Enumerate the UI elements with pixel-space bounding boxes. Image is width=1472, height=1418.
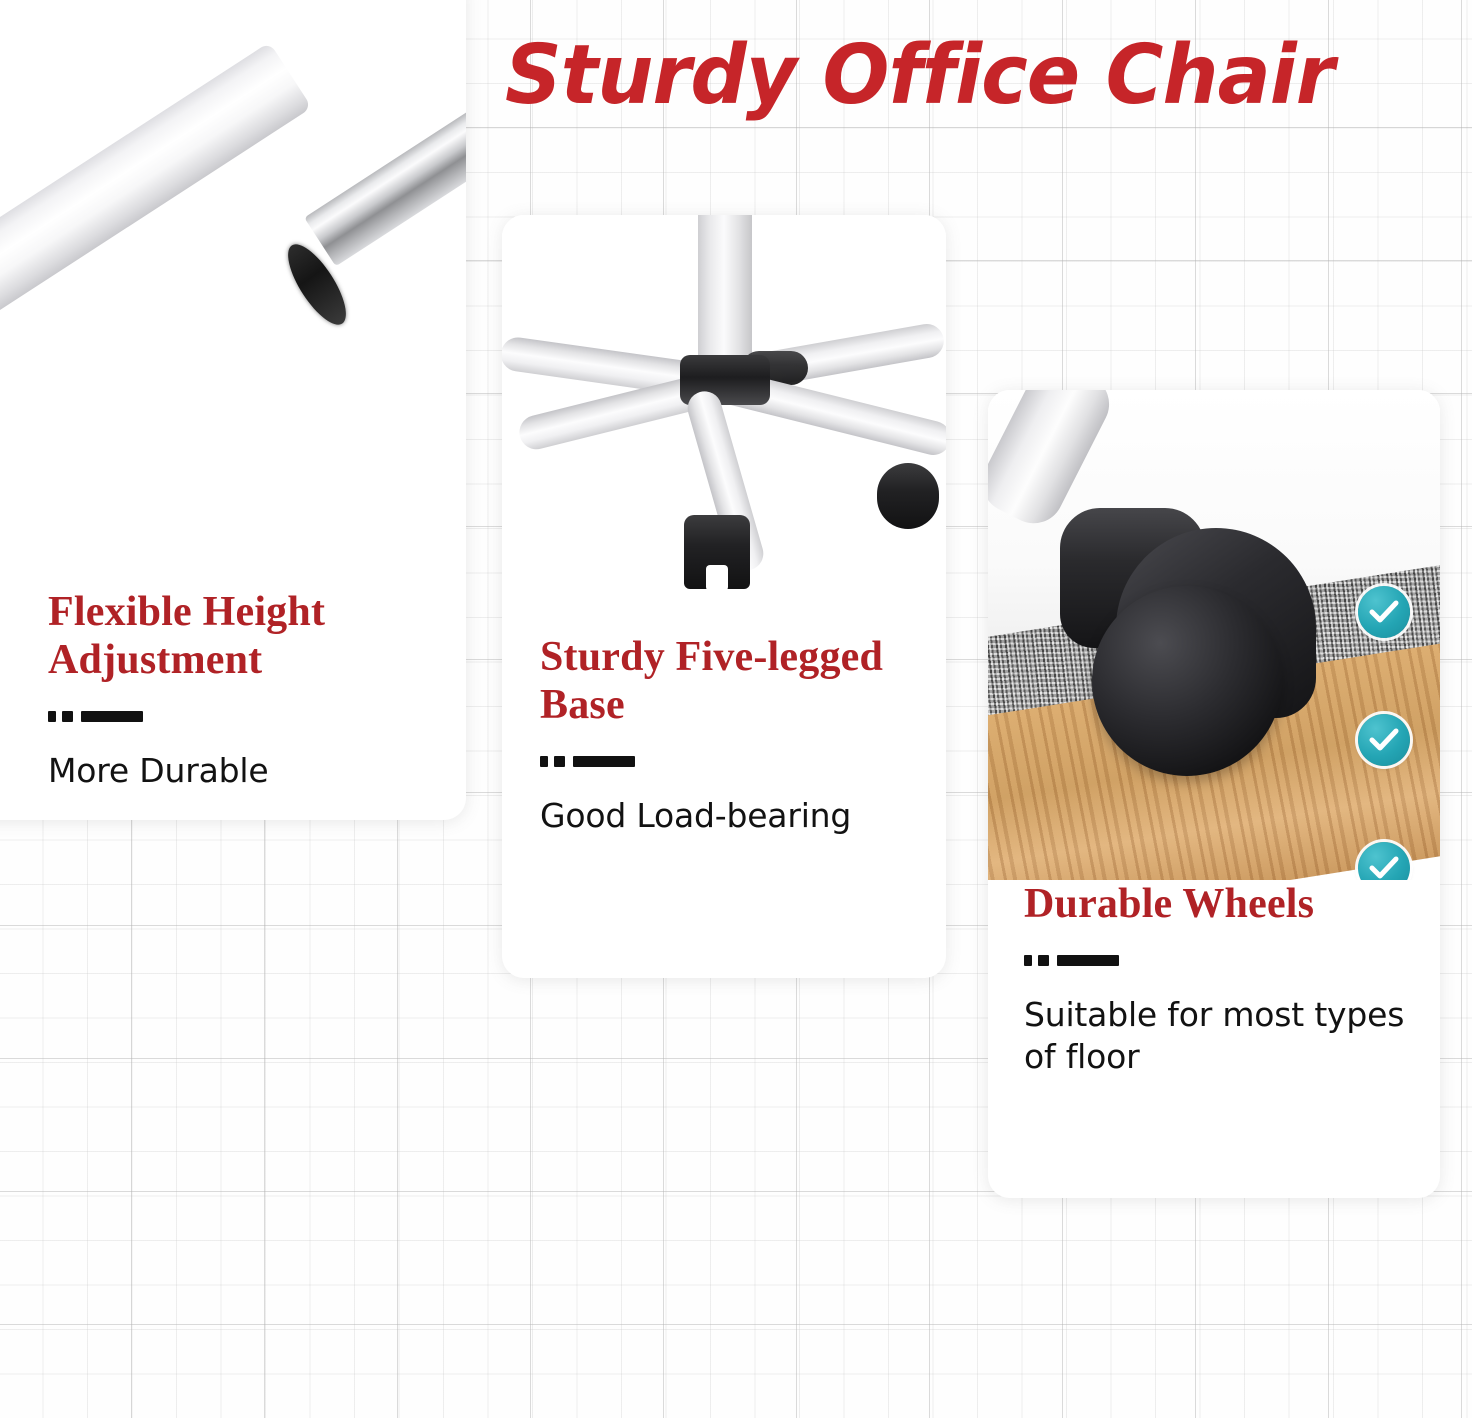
feature-image-five-legged-base [502,215,946,635]
feature-text-block: Flexible Height Adjustment More Durable [0,588,466,820]
feature-text-block: Durable Wheels Suitable for most types o… [988,880,1440,1198]
feature-image-gas-cylinder [0,0,466,590]
feature-card-flexible-height-adjustment: Flexible Height Adjustment More Durable [0,0,466,820]
feature-subtext: Suitable for most types of floor [1024,994,1440,1078]
chair-base-illustration [502,215,946,635]
feature-heading: Sturdy Five-legged Base [540,633,946,729]
check-icon-marble [1358,586,1410,638]
caster-wheel-right [877,463,939,529]
floor-compatibility-checklist [1358,586,1420,880]
check-icon-carpet [1358,714,1410,766]
page-title: Sturdy Office Chair [505,33,1427,119]
feature-subtext: Good Load-bearing [540,795,946,837]
feature-heading: Flexible Height Adjustment [48,588,466,684]
feature-subtext: More Durable [48,750,466,792]
feature-card-durable-wheels: Durable Wheels Suitable for most types o… [988,390,1440,1198]
caster-tire [1092,586,1282,776]
caster-wheel-illustration [988,390,1440,880]
cylinder-outer-tube [0,42,312,342]
divider-dash-bar [48,710,466,722]
product-infographic-poster: Sturdy Office Chair Flexible Height Adju… [0,0,1472,1418]
feature-heading: Durable Wheels [1024,880,1440,928]
feature-text-block: Sturdy Five-legged Base Good Load-bearin… [502,633,946,978]
feature-card-sturdy-five-legged-base: Sturdy Five-legged Base Good Load-bearin… [502,215,946,978]
caster-wheel-front [684,515,750,589]
divider-dash-bar [540,755,946,767]
gas-cylinder-illustration [0,0,466,590]
feature-image-durable-wheels [988,390,1440,880]
cylinder-chrome-rod [304,92,466,266]
check-icon-wood [1358,842,1410,880]
divider-dash-bar [1024,954,1440,966]
